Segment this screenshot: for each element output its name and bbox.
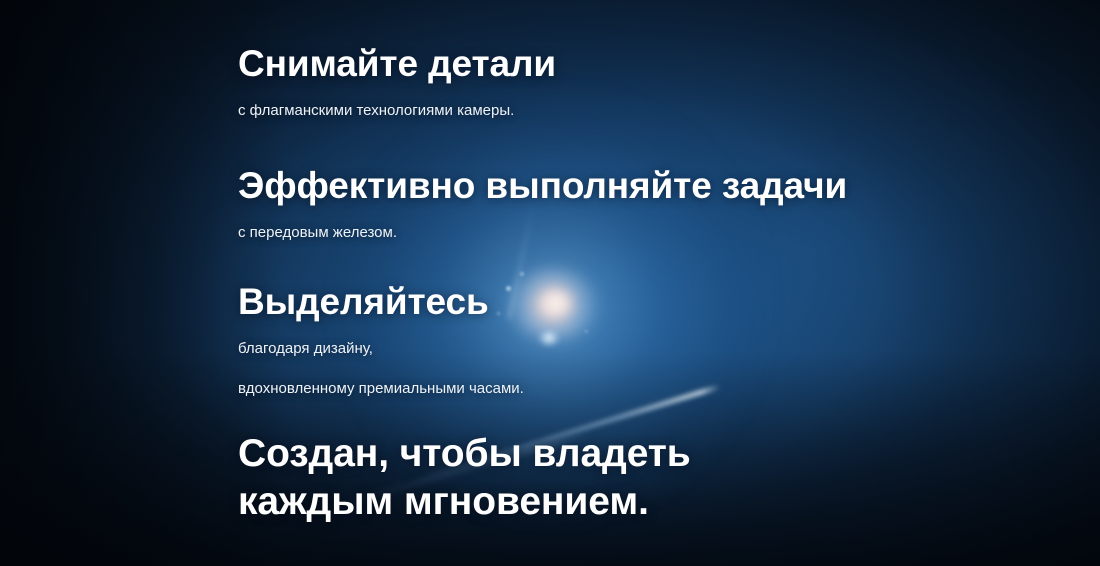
subtitle-design-line-1: благодаря дизайну,: [238, 337, 524, 361]
subtitle-performance: с передовым железом.: [238, 221, 847, 245]
headline-design: Выделяйтесь: [238, 282, 524, 321]
promo-banner: Снимайте детали с флагманскими технологи…: [0, 0, 1100, 566]
headline-camera: Снимайте детали: [238, 44, 556, 83]
subtitle-design-line-2: вдохновленному премиальными часами.: [238, 377, 524, 401]
headline-closing: Создан, чтобы владеть каждым мгновением.: [238, 430, 838, 526]
closing-statement-block: Создан, чтобы владеть каждым мгновением.: [238, 430, 838, 526]
headline-performance: Эффективно выполняйте задачи: [238, 166, 847, 205]
feature-block-performance: Эффективно выполняйте задачи с передовым…: [238, 166, 847, 245]
feature-block-design: Выделяйтесь благодаря дизайну, вдохновле…: [238, 282, 524, 401]
subtitle-camera: с флагманскими технологиями камеры.: [238, 99, 556, 123]
feature-block-camera: Снимайте детали с флагманскими технологи…: [238, 44, 556, 123]
